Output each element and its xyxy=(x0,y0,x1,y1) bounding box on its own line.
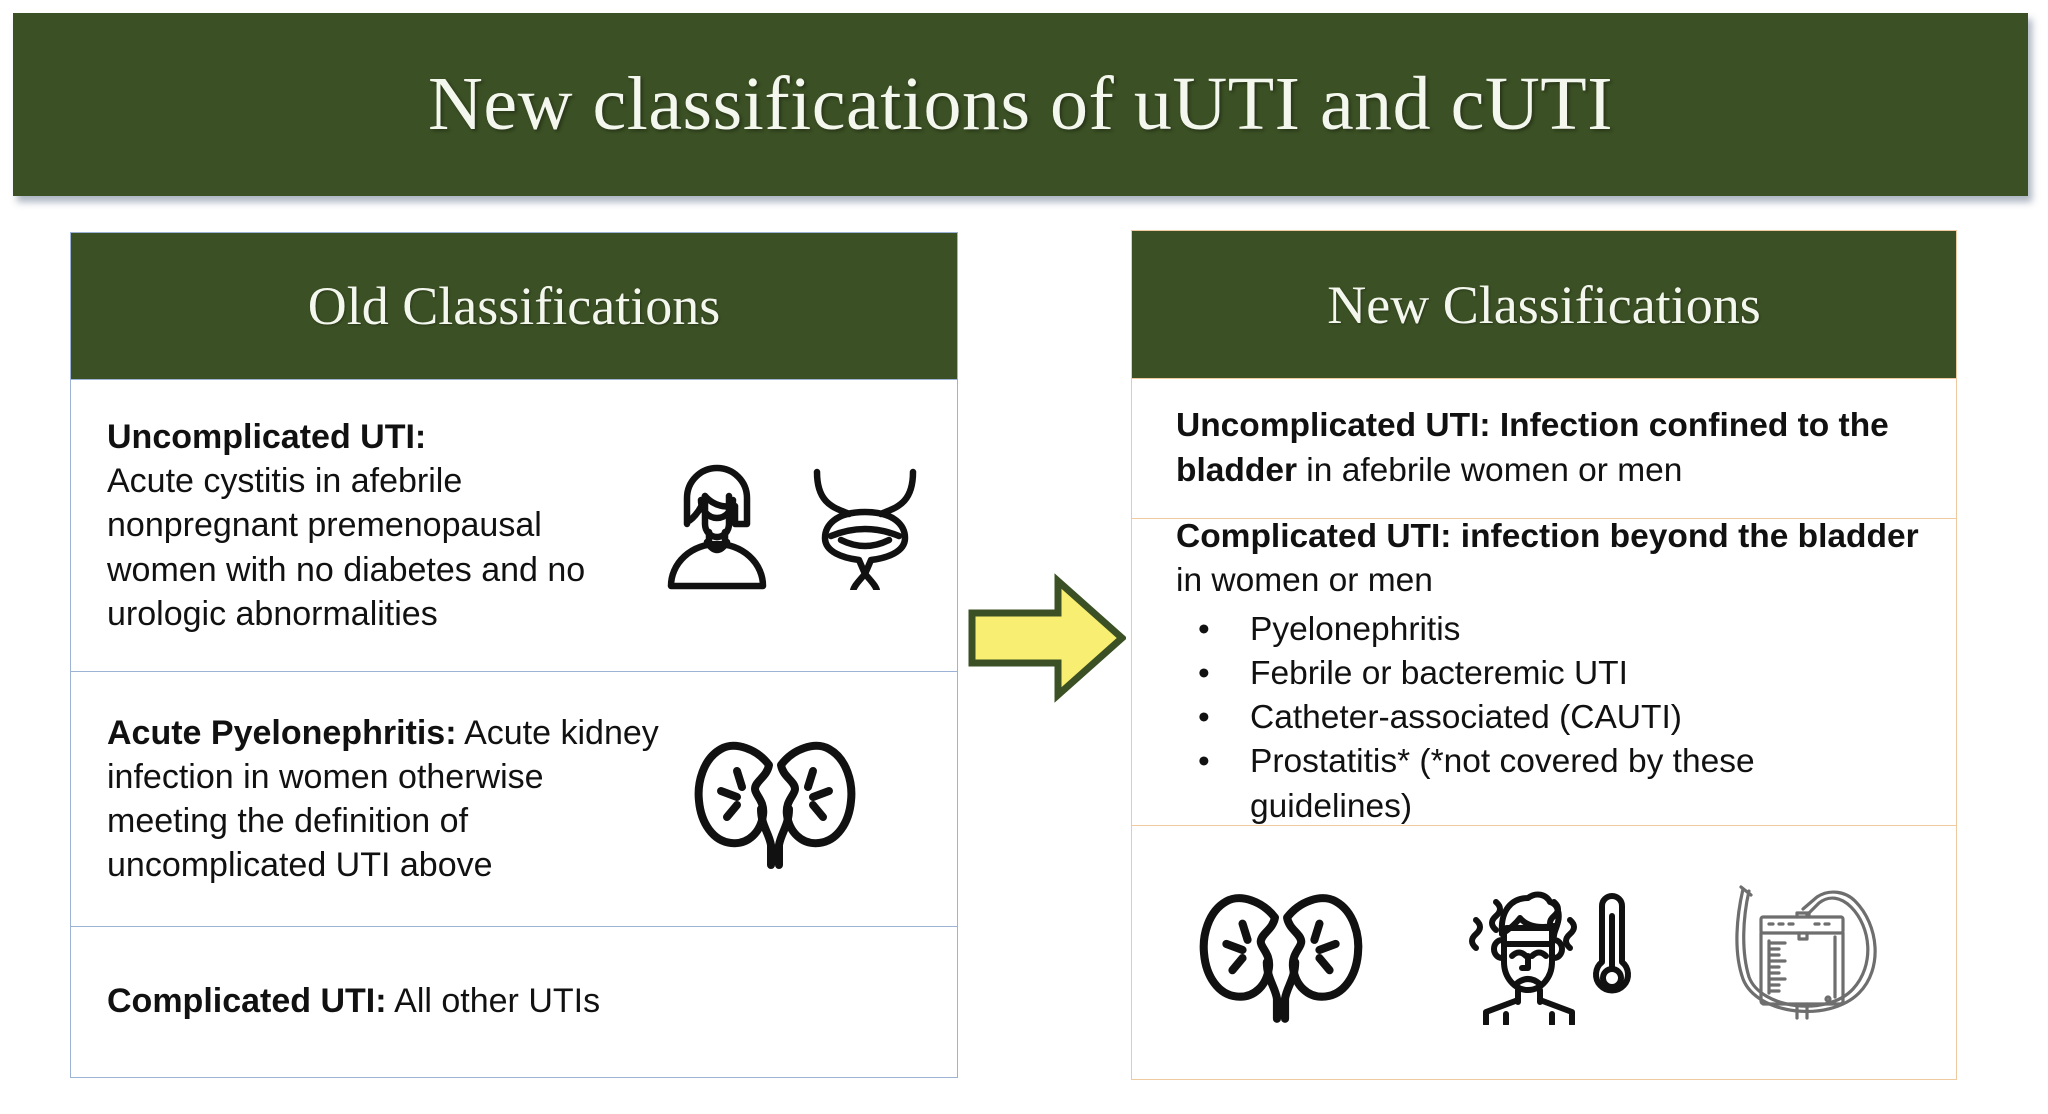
complicated-uti-old-term: Complicated UTI: xyxy=(107,982,387,1020)
kidneys-icon xyxy=(691,729,859,869)
complicated-uti-new-text: Complicated UTI: infection beyond the bl… xyxy=(1132,515,1956,829)
new-classifications-header-label: New Classifications xyxy=(1327,274,1760,336)
complicated-uti-new-term: Complicated UTI: infection beyond the bl… xyxy=(1176,518,1919,555)
list-item-label: Pyelonephritis xyxy=(1250,611,1460,648)
new-classifications-table: New Classifications Uncomplicated UTI: I… xyxy=(1131,230,1957,1080)
list-item-label: Prostatitis* (*not covered by these guid… xyxy=(1250,743,1755,824)
complicated-uti-new-definition: in women or men xyxy=(1176,562,1433,599)
bullet-marker-icon: • xyxy=(1198,740,1210,784)
complicated-uti-bullet-list: • Pyelonephritis • Febrile or bacteremic… xyxy=(1176,608,1920,829)
page-title: New classifications of uUTI and cUTI xyxy=(428,61,1613,148)
acute-pyelonephritis-old-text: Acute Pyelonephritis: Acute kidney infec… xyxy=(71,711,691,888)
table-row xyxy=(1132,825,1956,1078)
new-classifications-header: New Classifications xyxy=(1132,231,1956,378)
uncomplicated-uti-old-text: Uncomplicated UTI: Acute cystitis in afe… xyxy=(71,415,657,636)
table-row: Uncomplicated UTI: Acute cystitis in afe… xyxy=(71,379,957,671)
uncomplicated-uti-new-text: Uncomplicated UTI: Infection confined to… xyxy=(1132,404,1956,492)
bladder-drip-icon xyxy=(803,462,927,590)
table-row: Acute Pyelonephritis: Acute kidney infec… xyxy=(71,671,957,926)
table-row: Uncomplicated UTI: Infection confined to… xyxy=(1132,378,1956,518)
catheter-bag-icon xyxy=(1733,881,1893,1023)
table-row: Complicated UTI: infection beyond the bl… xyxy=(1132,518,1956,825)
uncomplicated-uti-old-definition: Acute cystitis in afebrile nonpregnant p… xyxy=(107,462,585,633)
kidneys-icon xyxy=(1196,881,1366,1023)
uncomplicated-uti-new-definition: in afebrile women or men xyxy=(1297,452,1682,489)
complicated-uti-old-text: Complicated UTI: All other UTIs xyxy=(71,979,691,1023)
bullet-marker-icon: • xyxy=(1198,608,1210,652)
list-item: • Pyelonephritis xyxy=(1176,608,1920,652)
list-item-label: Febrile or bacteremic UTI xyxy=(1250,655,1628,692)
acute-pyelonephritis-old-icons xyxy=(691,729,889,869)
fever-thermometer-icon xyxy=(1462,880,1637,1025)
complicated-uti-old-definition: All other UTIs xyxy=(387,982,601,1020)
table-row: Complicated UTI: All other UTIs xyxy=(71,926,957,1076)
old-classifications-header-label: Old Classifications xyxy=(308,275,720,337)
list-item: • Prostatitis* (*not covered by these gu… xyxy=(1176,740,1920,828)
old-classifications-header: Old Classifications xyxy=(71,233,957,379)
list-item: • Febrile or bacteremic UTI xyxy=(1176,652,1920,696)
bullet-marker-icon: • xyxy=(1198,696,1210,740)
acute-pyelonephritis-old-term: Acute Pyelonephritis: xyxy=(107,714,457,752)
right-arrow-icon xyxy=(968,573,1126,703)
list-item-label: Catheter-associated (CAUTI) xyxy=(1250,699,1682,736)
new-classifications-icon-strip xyxy=(1132,880,1956,1025)
woman-patient-icon xyxy=(657,462,777,590)
uncomplicated-uti-old-icons xyxy=(657,462,957,590)
slide-title-banner: New classifications of uUTI and cUTI xyxy=(13,13,2028,196)
bullet-marker-icon: • xyxy=(1198,652,1210,696)
list-item: • Catheter-associated (CAUTI) xyxy=(1176,696,1920,740)
uncomplicated-uti-old-term: Uncomplicated UTI: xyxy=(107,418,426,456)
old-classifications-table: Old Classifications Uncomplicated UTI: A… xyxy=(70,232,958,1078)
